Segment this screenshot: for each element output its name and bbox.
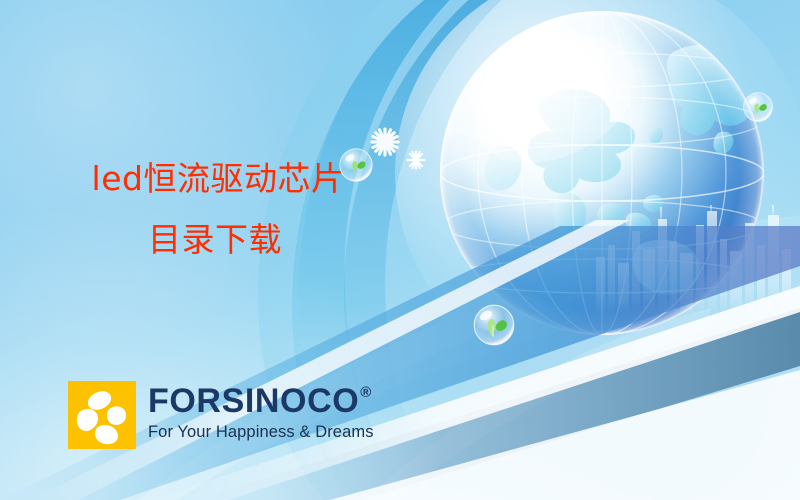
headline-line-1: led恒流驱动芯片 [0,160,430,199]
logo-wordmark-text: FORSINOCO [148,384,359,418]
bubble-sprout-corner-icon [742,91,774,123]
forsinoco-logo: FORSINOCO ® For Your Happiness & Dreams [68,381,374,449]
logo-wordmark-row: FORSINOCO ® [148,384,374,418]
promotional-banner: led恒流驱动芯片 目录下载 FORSINOCO ® For Your Happ… [0,0,800,500]
headline-line-2: 目录下载 [0,221,430,260]
logo-text-block: FORSINOCO ® For Your Happiness & Dreams [148,381,374,442]
diagonal-stripe-bands [0,220,800,500]
headline: led恒流驱动芯片 目录下载 [0,160,430,260]
bubble-sprout-large-icon [472,303,516,347]
registered-trademark-symbol: ® [360,385,372,400]
forsinoco-pinwheel-mark [68,381,136,449]
starburst-icon [370,127,400,157]
logo-tagline: For Your Happiness & Dreams [148,423,374,442]
